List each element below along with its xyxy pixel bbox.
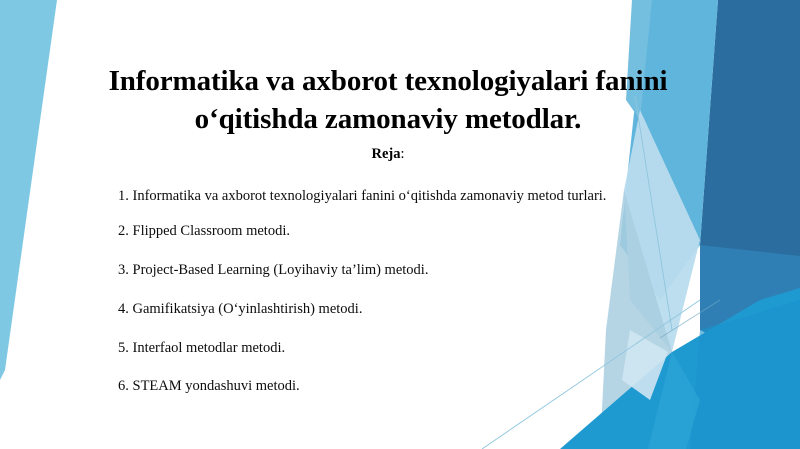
reja-label: Reja xyxy=(371,146,400,162)
list-item: 5. Interfaol metodlar metodi. xyxy=(118,334,658,362)
reja-heading: Reja: xyxy=(88,146,688,163)
presentation-slide: Informatika va axborot texnologiyalari f… xyxy=(0,0,800,449)
list-item: 3. Project-Based Learning (Loyihaviy ta’… xyxy=(118,256,658,284)
list-item: 4. Gamifikatsiya (O‘yinlashtirish) metod… xyxy=(118,295,658,323)
list-item: 6. STEAM yondashuvi metodi. xyxy=(118,372,658,400)
reja-colon: : xyxy=(400,146,404,162)
reja-list: 1. Informatika va axborot texnologiyalar… xyxy=(118,182,658,411)
list-item: 1. Informatika va axborot texnologiyalar… xyxy=(118,182,658,210)
slide-content: Informatika va axborot texnologiyalari f… xyxy=(0,0,800,449)
list-item: 2. Flipped Classroom metodi. xyxy=(118,217,658,245)
page-title: Informatika va axborot texnologiyalari f… xyxy=(88,63,688,137)
